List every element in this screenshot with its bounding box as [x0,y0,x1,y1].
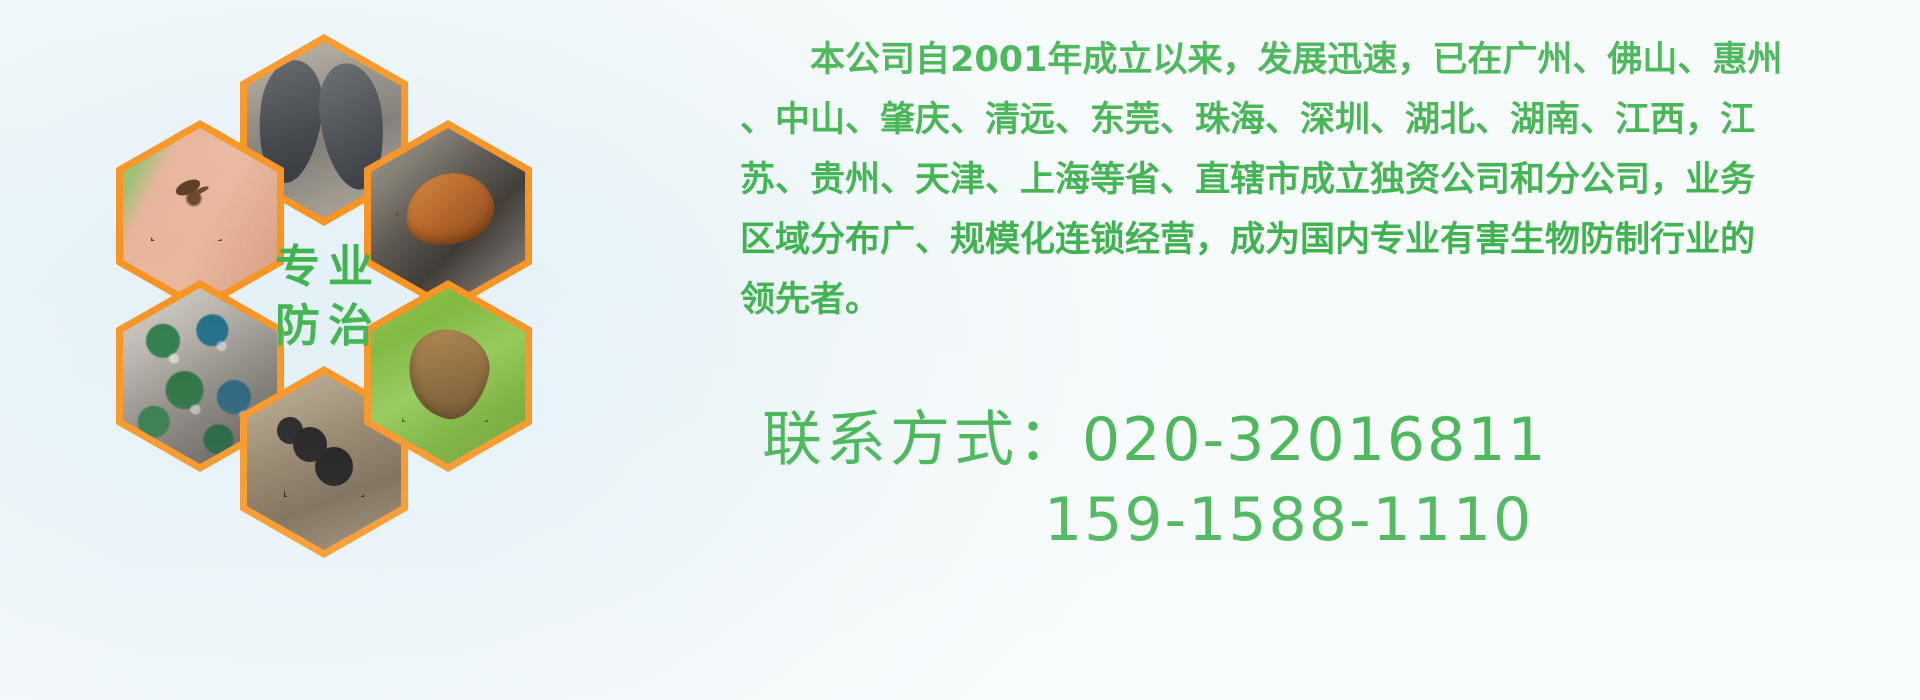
contact-block: 联系方式：020-32016811 159-1588-1110 [762,400,1548,560]
company-intro-paragraph: 本公司自2001年成立以来，发展迅速，已在广州、佛山、惠州 、中山、肇庆、清远、… [740,30,1890,330]
contact-primary-line: 联系方式：020-32016811 [762,400,1548,480]
contact-label: 联系方式： [762,405,1082,475]
intro-line-2: 、中山、肇庆、清远、东莞、珠海、深圳、湖北、湖南、江西，江 [740,90,1890,150]
slogan-line-2: 防治 [267,302,381,349]
slogan-line-1: 专业 [267,243,381,290]
phone-primary[interactable]: 020-32016811 [1082,405,1548,475]
intro-line-1: 本公司自2001年成立以来，发展迅速，已在广州、佛山、惠州 [740,30,1890,90]
contact-secondary-line: 159-1588-1110 [762,480,1548,560]
intro-text-block: 本公司自2001年成立以来，发展迅速，已在广州、佛山、惠州 、中山、肇庆、清远、… [740,30,1890,330]
intro-line-5: 领先者。 [740,270,1890,330]
phone-secondary[interactable]: 159-1588-1110 [1044,485,1533,555]
hex-photo-cluster: 专业 防治 [88,8,588,568]
promo-banner: 专业 防治 本公司自2001年成立以来，发展迅速，已在广州、佛山、惠州 、中山、… [0,0,1920,700]
intro-line-4: 区域分布广、规模化连锁经营，成为国内专业有害生物防制行业的 [740,210,1890,270]
intro-line-3: 苏、贵州、天津、上海等省、直辖市成立独资公司和分公司，业务 [740,150,1890,210]
hex-center-slogan: 专业 防治 [240,200,408,392]
